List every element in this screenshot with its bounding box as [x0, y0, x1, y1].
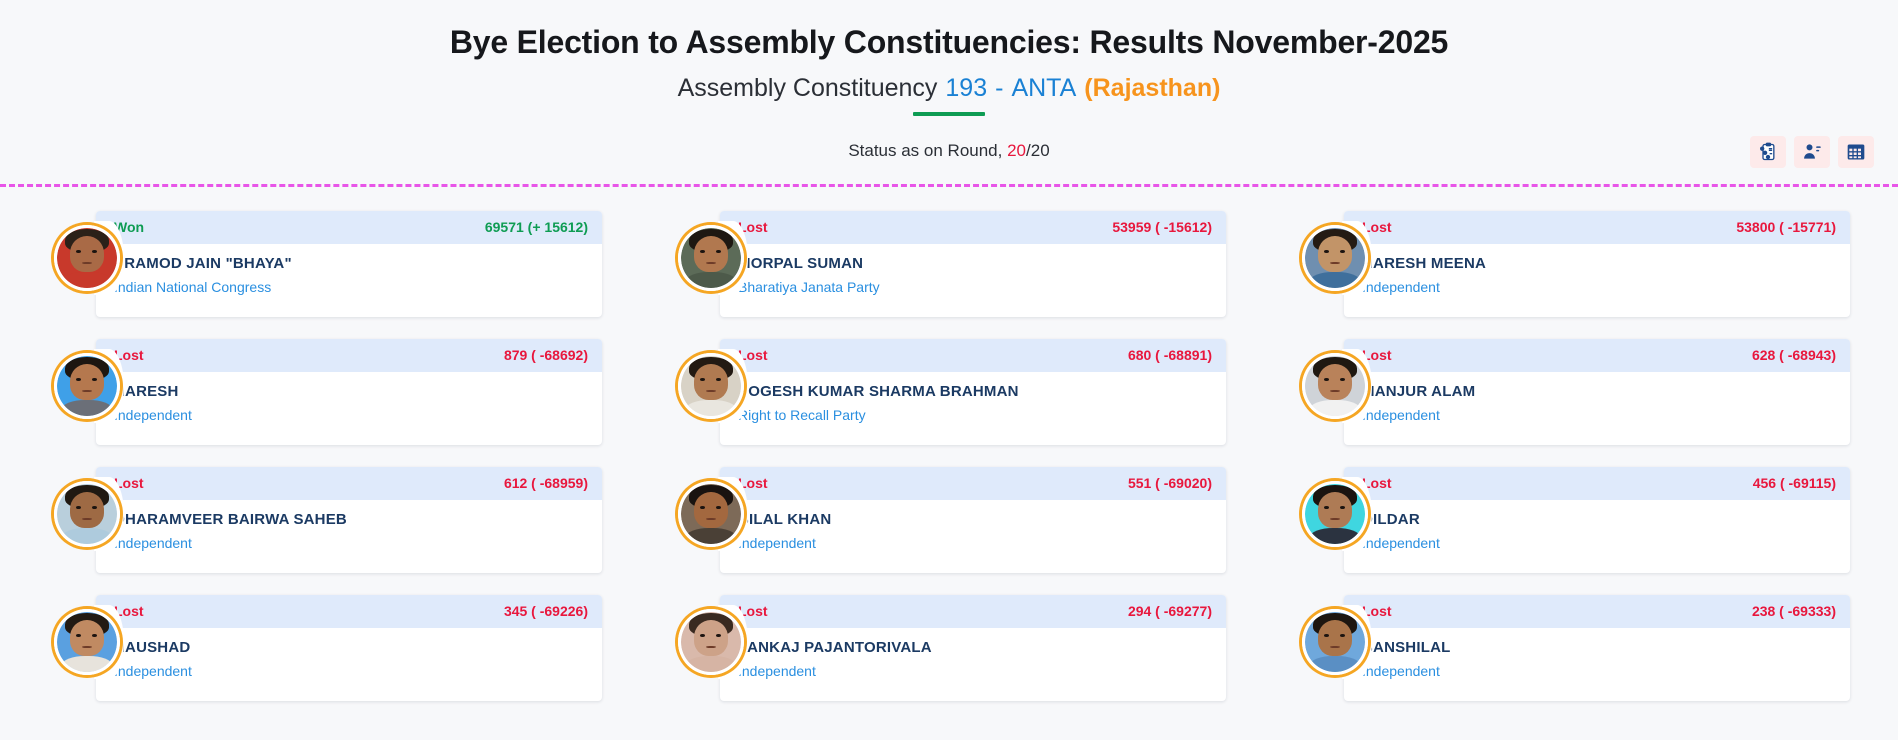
ac-number: 193: [945, 74, 987, 103]
votes-and-margin: 53800 ( -15771): [1736, 219, 1836, 235]
candidate-card-header: Lost294 ( -69277): [720, 595, 1226, 628]
avatar-photo: [681, 228, 741, 288]
party-name[interactable]: Independent: [114, 535, 588, 551]
results-table-button[interactable]: [1838, 136, 1874, 168]
candidate-card[interactable]: Lost238 ( -69333)BANSHILALIndependent: [1296, 595, 1850, 701]
votes-and-margin: 628 ( -68943): [1752, 347, 1836, 363]
avatar: [1302, 609, 1368, 675]
avatar: [678, 481, 744, 547]
votes-and-margin: 456 ( -69115): [1753, 475, 1836, 491]
results-table-icon: [1846, 142, 1866, 162]
total-rounds: 20: [1031, 141, 1050, 160]
party-name[interactable]: Independent: [1362, 663, 1836, 679]
toolbar-icons: [1750, 136, 1874, 168]
party-name[interactable]: Independent: [738, 535, 1212, 551]
candidate-info: PRAMOD JAIN "BHAYA"Indian National Congr…: [96, 244, 602, 295]
constituency-subtitle: Assembly Constituency 193 - ANTA (Rajast…: [0, 74, 1898, 103]
candidate-info: NAUSHADIndependent: [96, 628, 602, 679]
candidate-card[interactable]: Lost53800 ( -15771)NARESH MEENAIndepende…: [1296, 211, 1850, 317]
candidate-card-body[interactable]: Lost53959 ( -15612)MORPAL SUMANBharatiya…: [720, 211, 1226, 317]
avatar: [54, 353, 120, 419]
avatar-photo: [57, 484, 117, 544]
candidate-details-icon: [1802, 142, 1822, 162]
votes-and-margin: 551 ( -69020): [1128, 475, 1212, 491]
candidate-info: MORPAL SUMANBharatiya Janata Party: [720, 244, 1226, 295]
candidate-info: DILDARIndependent: [1344, 500, 1850, 551]
current-round: 20: [1007, 141, 1026, 160]
candidate-card-header: Lost879 ( -68692): [96, 339, 602, 372]
party-name[interactable]: Independent: [1362, 535, 1836, 551]
candidate-card-header: Lost53959 ( -15612): [720, 211, 1226, 244]
avatar: [1302, 353, 1368, 419]
section-divider: [0, 184, 1898, 187]
candidate-info: PANKAJ PAJANTORIVALAIndependent: [720, 628, 1226, 679]
candidate-card-body[interactable]: Lost612 ( -68959)DHARAMVEER BAIRWA SAHEB…: [96, 467, 602, 573]
candidate-card-body[interactable]: Lost628 ( -68943)MANJUR ALAMIndependent: [1344, 339, 1850, 445]
candidate-info: BILAL KHANIndependent: [720, 500, 1226, 551]
candidate-name: PANKAJ PAJANTORIVALA: [738, 639, 1212, 656]
votes-and-margin: 879 ( -68692): [504, 347, 588, 363]
party-name[interactable]: Independent: [738, 663, 1212, 679]
avatar: [54, 609, 120, 675]
votes-and-margin: 294 ( -69277): [1128, 603, 1212, 619]
candidate-card[interactable]: Lost628 ( -68943)MANJUR ALAMIndependent: [1296, 339, 1850, 445]
avatar: [678, 609, 744, 675]
avatar-photo: [1305, 484, 1365, 544]
avatar-photo: [57, 356, 117, 416]
title-underline: [913, 112, 985, 116]
candidate-card-header: Lost53800 ( -15771): [1344, 211, 1850, 244]
avatar-photo: [57, 228, 117, 288]
votes-and-margin: 69571 (+ 15612): [485, 219, 588, 235]
candidate-name: BANSHILAL: [1362, 639, 1836, 656]
candidate-info: DHARAMVEER BAIRWA SAHEBIndependent: [96, 500, 602, 551]
status-label: Status as on Round,: [848, 141, 1002, 160]
candidate-card[interactable]: Lost879 ( -68692)NARESHIndependent: [48, 339, 602, 445]
candidate-name: PRAMOD JAIN "BHAYA": [114, 255, 588, 272]
party-name[interactable]: Independent: [1362, 407, 1836, 423]
candidate-card[interactable]: Lost456 ( -69115)DILDARIndependent: [1296, 467, 1850, 573]
candidate-card-header: Lost680 ( -68891): [720, 339, 1226, 372]
candidate-info: YOGESH KUMAR SHARMA BRAHMANRight to Reca…: [720, 372, 1226, 423]
candidate-card-header: Lost612 ( -68959): [96, 467, 602, 500]
candidate-name: BILAL KHAN: [738, 511, 1212, 528]
candidate-card-body[interactable]: Lost53800 ( -15771)NARESH MEENAIndepende…: [1344, 211, 1850, 317]
avatar: [1302, 481, 1368, 547]
candidate-name: NARESH MEENA: [1362, 255, 1836, 272]
page-title: Bye Election to Assembly Constituencies:…: [0, 22, 1898, 64]
candidate-card[interactable]: Lost612 ( -68959)DHARAMVEER BAIRWA SAHEB…: [48, 467, 602, 573]
candidate-card-body[interactable]: Lost294 ( -69277)PANKAJ PAJANTORIVALAInd…: [720, 595, 1226, 701]
candidate-card[interactable]: Lost294 ( -69277)PANKAJ PAJANTORIVALAInd…: [672, 595, 1226, 701]
candidate-card-body[interactable]: Lost238 ( -69333)BANSHILALIndependent: [1344, 595, 1850, 701]
candidate-card[interactable]: Lost53959 ( -15612)MORPAL SUMANBharatiya…: [672, 211, 1226, 317]
avatar-photo: [1305, 612, 1365, 672]
candidate-name: DILDAR: [1362, 511, 1836, 528]
candidate-info: BANSHILALIndependent: [1344, 628, 1850, 679]
party-name[interactable]: Bharatiya Janata Party: [738, 279, 1212, 295]
candidate-name: NAUSHAD: [114, 639, 588, 656]
candidate-card[interactable]: Lost345 ( -69226)NAUSHADIndependent: [48, 595, 602, 701]
candidate-card-body[interactable]: Lost680 ( -68891)YOGESH KUMAR SHARMA BRA…: [720, 339, 1226, 445]
candidate-card[interactable]: Won69571 (+ 15612)PRAMOD JAIN "BHAYA"Ind…: [48, 211, 602, 317]
avatar: [678, 353, 744, 419]
candidate-name: MANJUR ALAM: [1362, 383, 1836, 400]
candidate-name: MORPAL SUMAN: [738, 255, 1212, 272]
ac-separator: -: [995, 74, 1003, 103]
party-name[interactable]: Indian National Congress: [114, 279, 588, 295]
candidate-card[interactable]: Lost680 ( -68891)YOGESH KUMAR SHARMA BRA…: [672, 339, 1226, 445]
candidate-card-header: Lost628 ( -68943): [1344, 339, 1850, 372]
avatar: [678, 225, 744, 291]
avatar-photo: [681, 612, 741, 672]
election-results-page: Bye Election to Assembly Constituencies:…: [0, 0, 1898, 740]
party-name[interactable]: Independent: [1362, 279, 1836, 295]
candidate-card-header: Lost238 ( -69333): [1344, 595, 1850, 628]
candidate-card-header: Lost551 ( -69020): [720, 467, 1226, 500]
status-bar: Status as on Round, 20/20: [0, 136, 1898, 182]
candidate-card-body[interactable]: Lost879 ( -68692)NARESHIndependent: [96, 339, 602, 445]
poll-report-icon: [1758, 142, 1778, 162]
candidate-card-grid: Won69571 (+ 15612)PRAMOD JAIN "BHAYA"Ind…: [0, 211, 1898, 701]
avatar: [54, 481, 120, 547]
candidate-name: DHARAMVEER BAIRWA SAHEB: [114, 511, 588, 528]
avatar-photo: [681, 484, 741, 544]
candidate-card-body[interactable]: Lost551 ( -69020)BILAL KHANIndependent: [720, 467, 1226, 573]
party-name[interactable]: Independent: [114, 663, 588, 679]
page-header: Bye Election to Assembly Constituencies:…: [0, 0, 1898, 116]
candidate-card-header: Won69571 (+ 15612): [96, 211, 602, 244]
candidate-card[interactable]: Lost551 ( -69020)BILAL KHANIndependent: [672, 467, 1226, 573]
avatar-photo: [57, 612, 117, 672]
candidate-info: NARESH MEENAIndependent: [1344, 244, 1850, 295]
candidate-name: NARESH: [114, 383, 588, 400]
status-round-text: Status as on Round, 20/20: [0, 141, 1898, 161]
candidate-details-button[interactable]: [1794, 136, 1830, 168]
avatar-photo: [1305, 356, 1365, 416]
avatar-photo: [681, 356, 741, 416]
votes-and-margin: 612 ( -68959): [504, 475, 588, 491]
votes-and-margin: 238 ( -69333): [1752, 603, 1836, 619]
candidate-name: YOGESH KUMAR SHARMA BRAHMAN: [738, 383, 1212, 400]
votes-and-margin: 53959 ( -15612): [1112, 219, 1212, 235]
candidate-card-body[interactable]: Won69571 (+ 15612)PRAMOD JAIN "BHAYA"Ind…: [96, 211, 602, 317]
avatar: [54, 225, 120, 291]
candidate-info: MANJUR ALAMIndependent: [1344, 372, 1850, 423]
avatar-photo: [1305, 228, 1365, 288]
ac-name: ANTA: [1011, 74, 1076, 103]
poll-report-button[interactable]: [1750, 136, 1786, 168]
candidate-card-header: Lost456 ( -69115): [1344, 467, 1850, 500]
candidate-card-body[interactable]: Lost345 ( -69226)NAUSHADIndependent: [96, 595, 602, 701]
avatar: [1302, 225, 1368, 291]
party-name[interactable]: Independent: [114, 407, 588, 423]
candidate-card-header: Lost345 ( -69226): [96, 595, 602, 628]
votes-and-margin: 345 ( -69226): [504, 603, 588, 619]
subtitle-prefix: Assembly Constituency: [678, 74, 938, 103]
candidate-card-body[interactable]: Lost456 ( -69115)DILDARIndependent: [1344, 467, 1850, 573]
party-name[interactable]: Right to Recall Party: [738, 407, 1212, 423]
state-name: (Rajasthan): [1084, 74, 1220, 103]
votes-and-margin: 680 ( -68891): [1128, 347, 1212, 363]
candidate-info: NARESHIndependent: [96, 372, 602, 423]
